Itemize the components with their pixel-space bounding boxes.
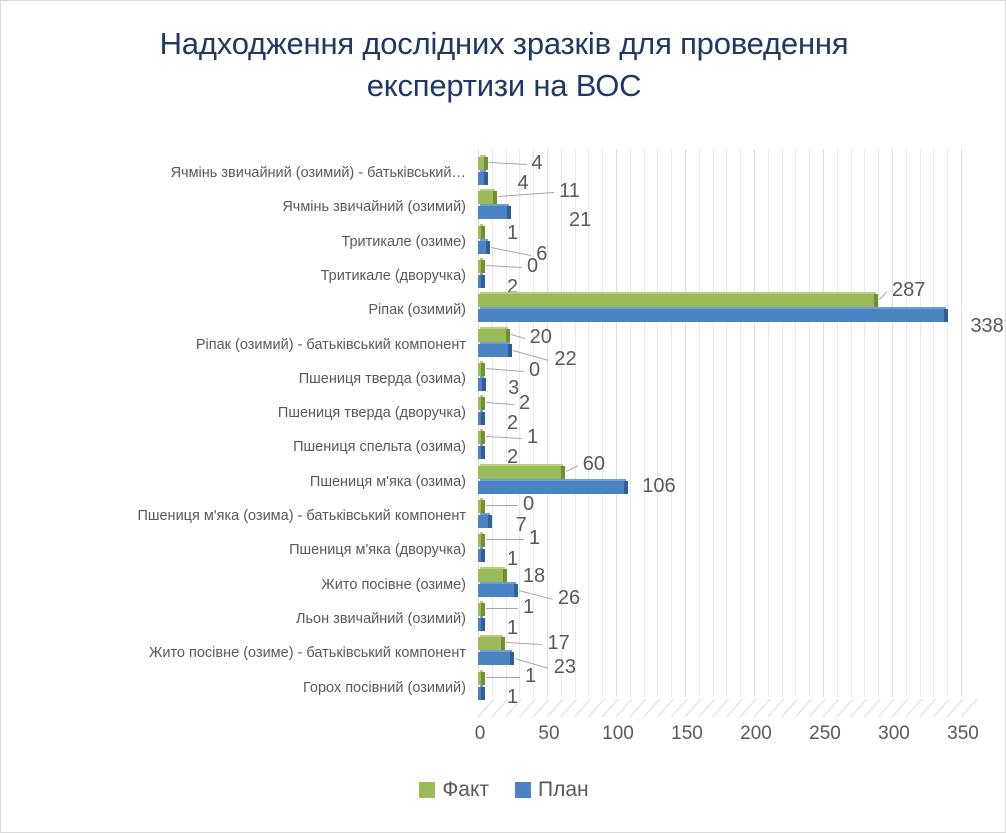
legend-swatch-icon — [419, 782, 435, 798]
bar-fakt — [478, 569, 507, 582]
data-label: 4 — [518, 173, 529, 193]
category-label: Ячмінь звичайний (озимий) — [1, 200, 466, 215]
category-label: Тритикале (озиме) — [1, 235, 466, 250]
bar-group — [478, 466, 961, 500]
bar-body — [478, 294, 874, 307]
bar-end-cap — [481, 397, 485, 410]
data-label: 18 — [523, 566, 545, 586]
bar-fakt — [478, 431, 485, 444]
bar-plan — [478, 652, 514, 665]
leader-line — [486, 608, 518, 609]
bar-group — [478, 363, 961, 397]
data-label: 1 — [507, 549, 518, 569]
bar-fakt — [478, 603, 485, 616]
category-label: Пшениця тверда (озима) — [1, 372, 466, 387]
bar-group — [478, 431, 961, 465]
x-tick-label: 100 — [588, 723, 648, 745]
data-label: 0 — [527, 256, 538, 276]
bar-group — [478, 191, 961, 225]
data-label: 3 — [508, 378, 519, 398]
bar-group — [478, 157, 961, 191]
category-label: Горох посівний (озимий) — [1, 681, 466, 696]
data-label: 1 — [529, 528, 540, 548]
leader-line — [486, 505, 518, 506]
category-label: Пшениця м'яка (озима) - батьківський ком… — [1, 509, 466, 524]
bar-body — [478, 481, 624, 494]
bar-plan — [478, 481, 628, 494]
data-label: 2 — [519, 393, 530, 413]
bar-end-cap — [486, 241, 490, 254]
data-label: 11 — [559, 181, 580, 201]
bar-body — [478, 309, 944, 322]
data-label: 17 — [547, 633, 569, 653]
x-tick-label: 150 — [657, 723, 717, 745]
bar-body — [478, 241, 486, 254]
chart-title: Надходження дослідних зразків для провед… — [151, 23, 857, 107]
bar-fakt — [478, 294, 878, 307]
legend-label: План — [538, 779, 589, 800]
bar-body — [478, 652, 510, 665]
data-label: 0 — [529, 360, 540, 380]
data-label: 60 — [583, 454, 605, 474]
bar-fakt — [478, 191, 497, 204]
data-label: 1 — [527, 427, 538, 447]
bar-fakt — [478, 157, 488, 170]
bar-end-cap — [510, 652, 514, 665]
bar-end-cap — [501, 637, 505, 650]
bar-end-cap — [481, 412, 485, 425]
legend-label: Факт — [442, 779, 489, 800]
bar-body — [478, 637, 501, 650]
bar-fakt — [478, 329, 510, 342]
bar-group — [478, 534, 961, 568]
bar-fakt — [478, 534, 485, 547]
category-label: Ріпак (озимий) — [1, 303, 466, 318]
bar-fakt — [478, 672, 485, 685]
data-label: 338 — [970, 316, 1003, 336]
bar-end-cap — [481, 431, 485, 444]
bar-body — [478, 584, 514, 597]
bar-end-cap — [481, 534, 485, 547]
bar-end-cap — [481, 260, 485, 273]
bar-plan — [478, 275, 485, 288]
bar-body — [478, 191, 493, 204]
legend-item-fakt[interactable]: Факт — [419, 779, 489, 800]
bar-body — [478, 329, 506, 342]
plot-wrapper: Ячмінь звичайний (озимий) - батьківський… — [1, 149, 1006, 714]
bar-fakt — [478, 397, 485, 410]
data-label: 106 — [642, 476, 675, 496]
data-label: 2 — [507, 413, 518, 433]
bar-end-cap — [488, 515, 492, 528]
category-label: Жито посівне (озиме) — [1, 578, 466, 593]
bar-fakt — [478, 260, 485, 273]
floor-hatch — [478, 699, 977, 717]
bar-end-cap — [507, 206, 511, 219]
bar-end-cap — [481, 275, 485, 288]
bar-body — [478, 206, 507, 219]
data-label: 0 — [523, 494, 534, 514]
value-axis: 050100150200250300350 — [478, 723, 978, 749]
bar-group — [478, 294, 961, 328]
x-tick-label: 50 — [519, 723, 579, 745]
bar-plan — [478, 549, 485, 562]
bar-plan — [478, 172, 488, 185]
bar-group — [478, 397, 961, 431]
bar-end-cap — [514, 584, 518, 597]
data-label: 1 — [523, 597, 534, 617]
data-label: 1 — [507, 618, 518, 638]
category-label: Пшениця м'яка (дворучка) — [1, 543, 466, 558]
data-label: 4 — [532, 153, 543, 173]
bar-body — [478, 466, 561, 479]
gridline — [961, 149, 962, 697]
bar-body — [478, 344, 508, 357]
bar-plan — [478, 378, 486, 391]
bar-end-cap — [482, 378, 486, 391]
bar-end-cap — [484, 172, 488, 185]
plot-area: 4411211602287338202203221260106071118261… — [478, 149, 961, 697]
chart-container: Надходження дослідних зразків для провед… — [0, 0, 1006, 833]
bar-end-cap — [481, 226, 485, 239]
category-label: Жито посівне (озиме) - батьківський комп… — [1, 646, 466, 661]
bar-plan — [478, 412, 485, 425]
leader-line — [486, 677, 520, 678]
bar-fakt — [478, 466, 565, 479]
bar-body — [478, 515, 488, 528]
x-tick-label: 200 — [726, 723, 786, 745]
bar-end-cap — [506, 329, 510, 342]
bar-end-cap — [503, 569, 507, 582]
legend-swatch-icon — [515, 782, 531, 798]
bar-plan — [478, 309, 948, 322]
bar-fakt — [478, 226, 485, 239]
bar-end-cap — [481, 363, 485, 376]
bar-plan — [478, 241, 490, 254]
data-label: 20 — [530, 327, 552, 347]
bar-group — [478, 500, 961, 534]
category-axis: Ячмінь звичайний (озимий) - батьківський… — [1, 149, 466, 697]
bar-end-cap — [481, 500, 485, 513]
legend-item-plan[interactable]: План — [515, 779, 589, 800]
chart-legend: ФактПлан — [1, 779, 1006, 800]
bar-end-cap — [944, 309, 948, 322]
category-label: Пшениця спельта (озима) — [1, 440, 466, 455]
bar-body — [478, 569, 503, 582]
category-label: Ріпак (озимий) - батьківський компонент — [1, 338, 466, 353]
bar-plan — [478, 344, 512, 357]
data-label: 7 — [516, 515, 527, 535]
bar-end-cap — [481, 446, 485, 459]
bar-fakt — [478, 363, 485, 376]
bar-end-cap — [481, 603, 485, 616]
data-label: 287 — [892, 280, 925, 300]
data-label: 1 — [507, 223, 518, 243]
category-label: Ячмінь звичайний (озимий) - батьківський… — [1, 166, 466, 181]
category-label: Пшениця тверда (дворучка) — [1, 406, 466, 421]
axis-floor-3d — [478, 697, 978, 719]
bar-end-cap — [484, 157, 488, 170]
bar-end-cap — [481, 672, 485, 685]
bar-end-cap — [481, 549, 485, 562]
category-label: Льон звичайний (озимий) — [1, 612, 466, 627]
bar-group — [478, 226, 961, 260]
bar-end-cap — [624, 481, 628, 494]
category-label: Тритикале (дворучка) — [1, 269, 466, 284]
bar-fakt — [478, 500, 485, 513]
x-tick-label: 250 — [795, 723, 855, 745]
bar-group — [478, 260, 961, 294]
bar-end-cap — [561, 466, 565, 479]
bar-plan — [478, 584, 518, 597]
data-label: 1 — [525, 666, 536, 686]
leader-line — [486, 539, 524, 540]
x-tick-label: 350 — [933, 723, 993, 745]
bar-end-cap — [481, 618, 485, 631]
category-label: Пшениця м'яка (озима) — [1, 475, 466, 490]
bar-end-cap — [493, 191, 497, 204]
bar-plan — [478, 618, 485, 631]
bar-end-cap — [874, 294, 878, 307]
bar-plan — [478, 515, 492, 528]
x-tick-label: 300 — [864, 723, 924, 745]
bar-fakt — [478, 637, 505, 650]
bar-plan — [478, 446, 485, 459]
bar-plan — [478, 206, 511, 219]
x-tick-label: 0 — [450, 723, 510, 745]
